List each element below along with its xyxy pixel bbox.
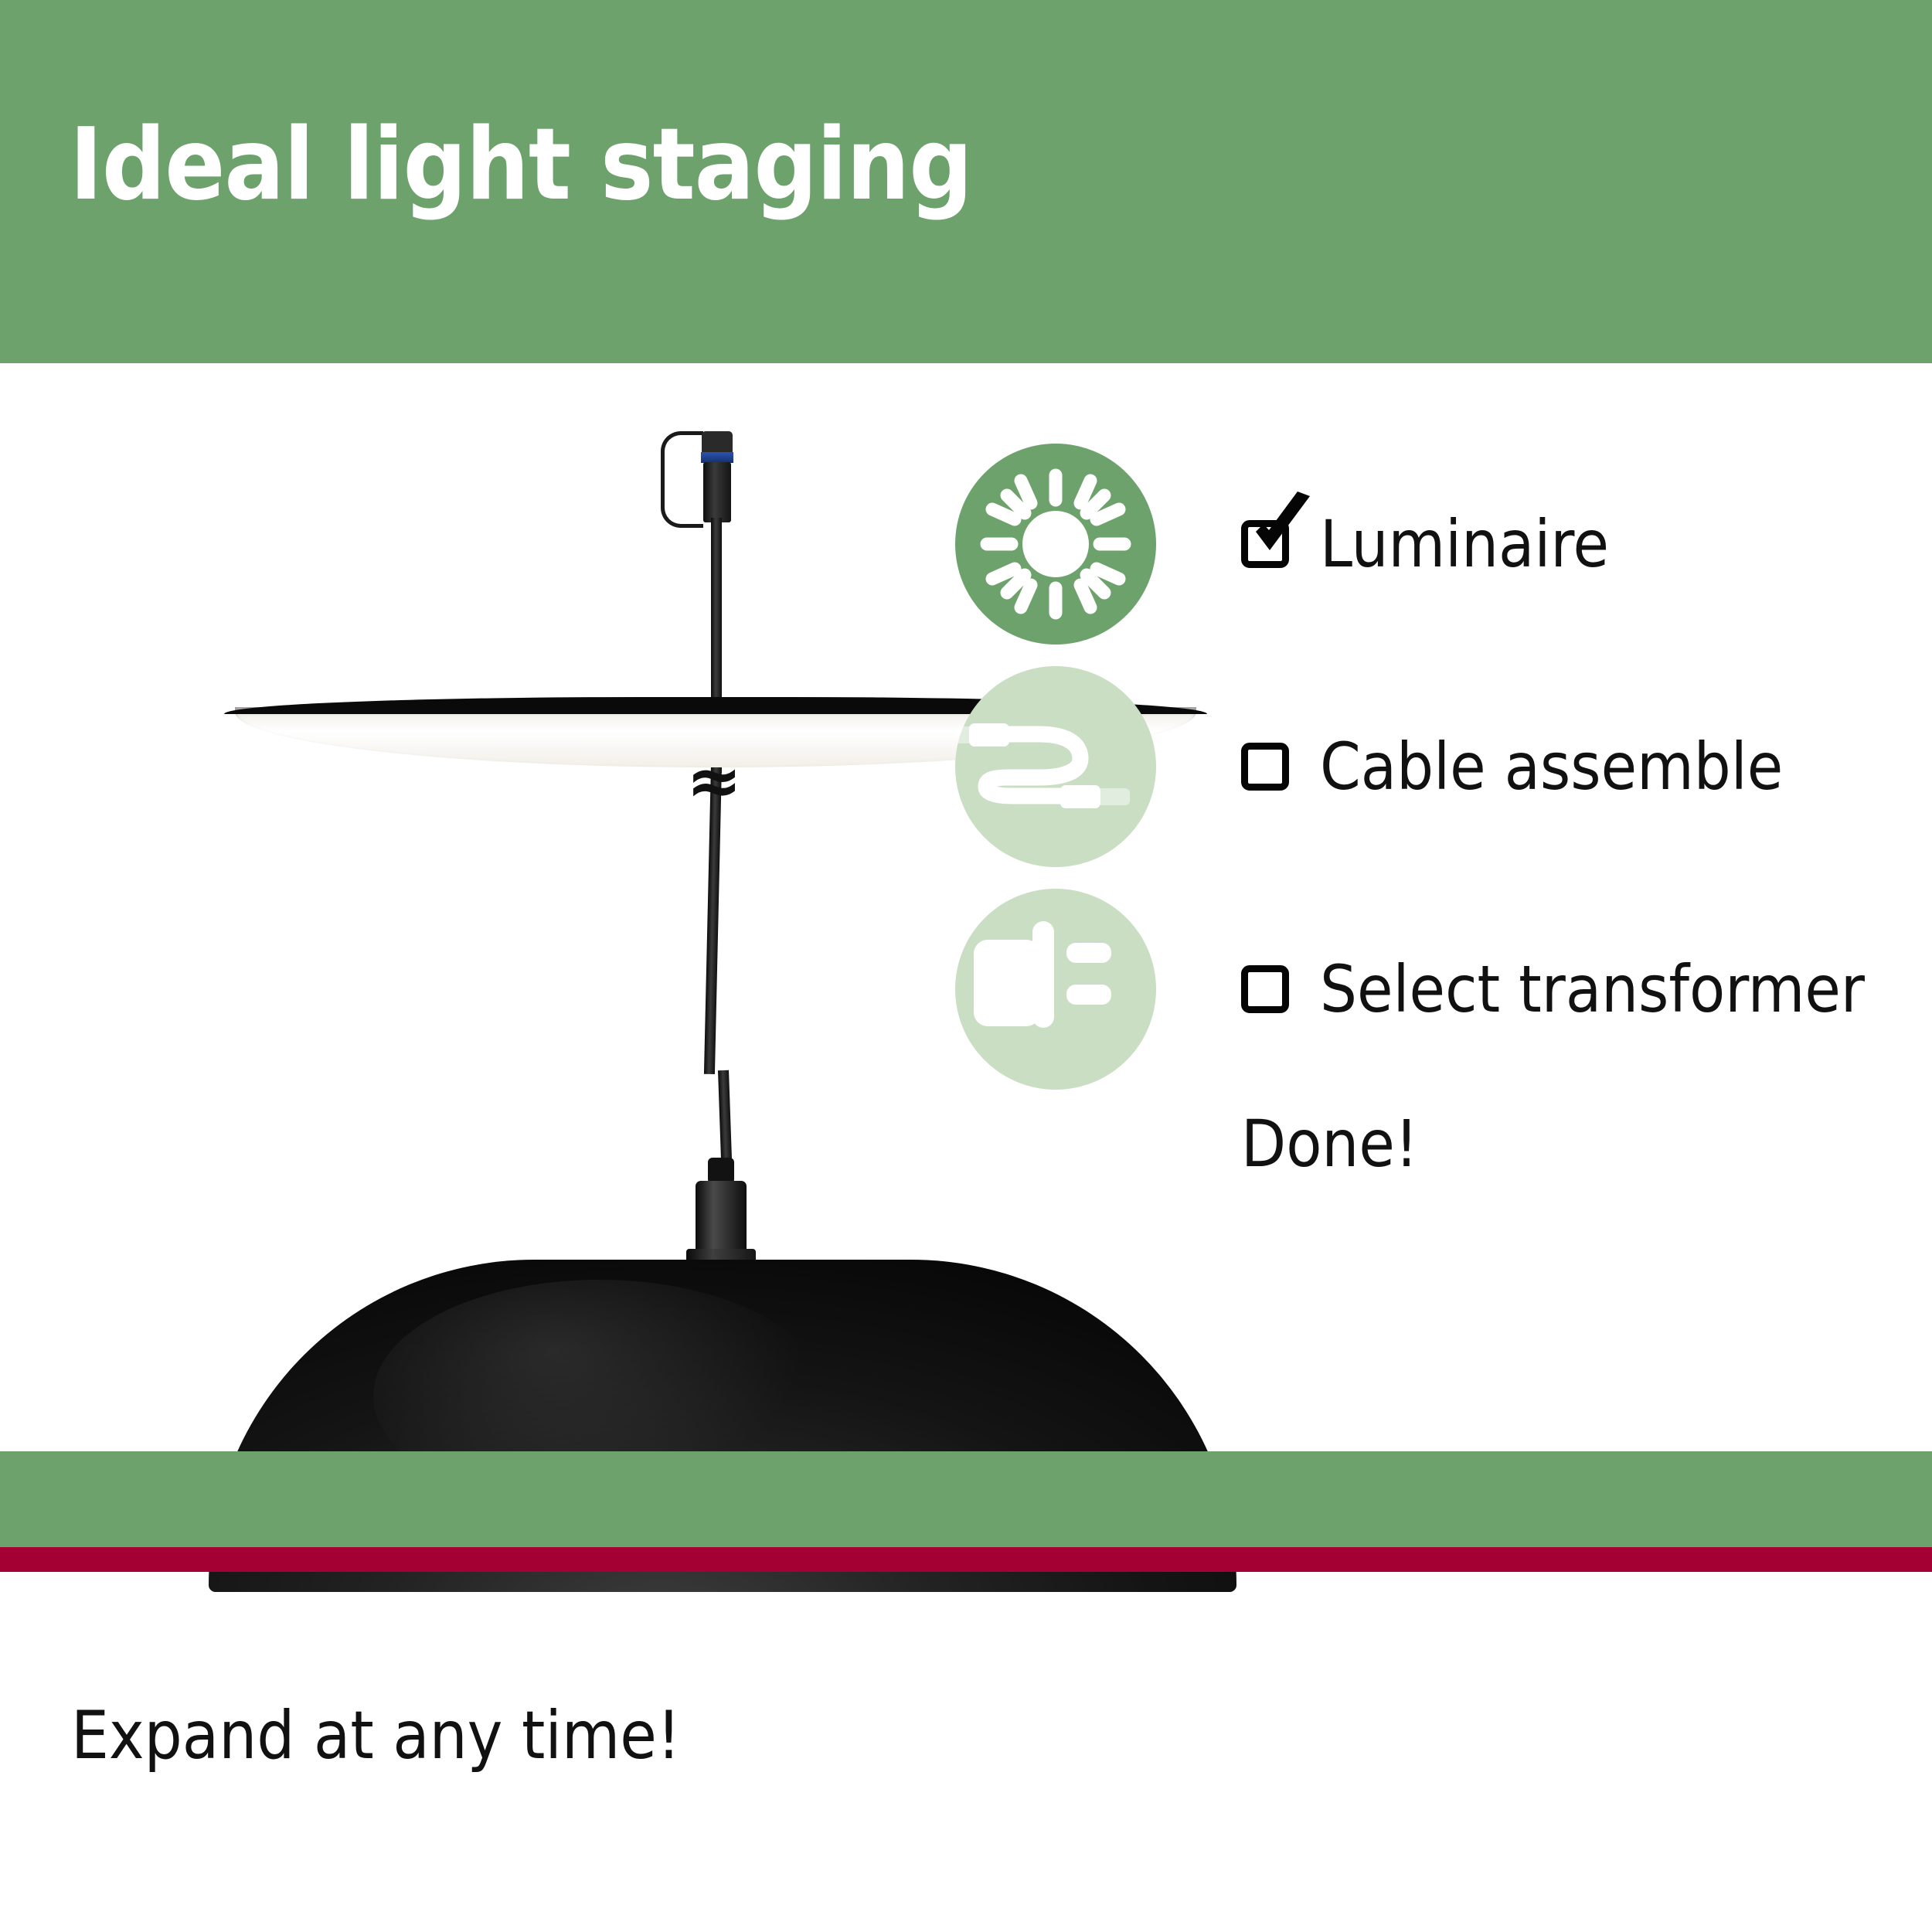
product-image-pendant-lamp: ≈ bbox=[201, 410, 896, 1437]
connector-cap bbox=[702, 431, 733, 453]
transformer-label-group: Select transformer bbox=[1241, 957, 1865, 1022]
footer-note-text: Expand at any time! bbox=[71, 1702, 681, 1769]
checkmark-icon bbox=[1243, 492, 1318, 566]
main-content-area: ≈ bbox=[0, 363, 1932, 1451]
checkbox-luminaire[interactable] bbox=[1241, 520, 1289, 568]
plug-icon bbox=[955, 889, 1156, 1090]
checklist-item-select-transformer[interactable]: Select transformer bbox=[955, 878, 1913, 1100]
connector-blue-ring bbox=[701, 452, 733, 463]
cable-icon-badge bbox=[955, 666, 1156, 867]
sun-icon-badge bbox=[955, 444, 1156, 645]
cable-strain-relief bbox=[708, 1158, 734, 1184]
header-band: Ideal light staging bbox=[0, 0, 1932, 363]
sun-icon bbox=[955, 444, 1156, 645]
lamp-socket-neck bbox=[696, 1181, 747, 1255]
checklist-label-cable-assemble: Cable assemble bbox=[1320, 734, 1783, 799]
checklist-item-luminaire[interactable]: Luminaire bbox=[955, 433, 1913, 655]
checklist-item-cable-assemble[interactable]: Cable assemble bbox=[955, 655, 1913, 878]
checkbox-select-transformer[interactable] bbox=[1241, 965, 1289, 1013]
page-title: Ideal light staging bbox=[70, 116, 972, 215]
connector-body bbox=[703, 462, 731, 522]
setup-checklist: Luminaire Cable assemble bbox=[955, 433, 1913, 1176]
checklist-label-luminaire: Luminaire bbox=[1320, 512, 1609, 577]
checklist-label-select-transformer: Select transformer bbox=[1320, 957, 1865, 1022]
checkbox-cable-assemble[interactable] bbox=[1241, 743, 1289, 791]
cable-loop bbox=[661, 431, 703, 528]
cable-segment-lower bbox=[718, 1070, 732, 1167]
plug-icon-badge bbox=[955, 889, 1156, 1090]
luminaire-label-group: Luminaire bbox=[1241, 512, 1609, 577]
footer-red-bar bbox=[0, 1547, 1932, 1572]
footer-green-bar bbox=[0, 1451, 1932, 1547]
done-status-text: Done! bbox=[1241, 1111, 1913, 1176]
cable-icon bbox=[955, 666, 1156, 867]
cable-label-group: Cable assemble bbox=[1241, 734, 1783, 799]
